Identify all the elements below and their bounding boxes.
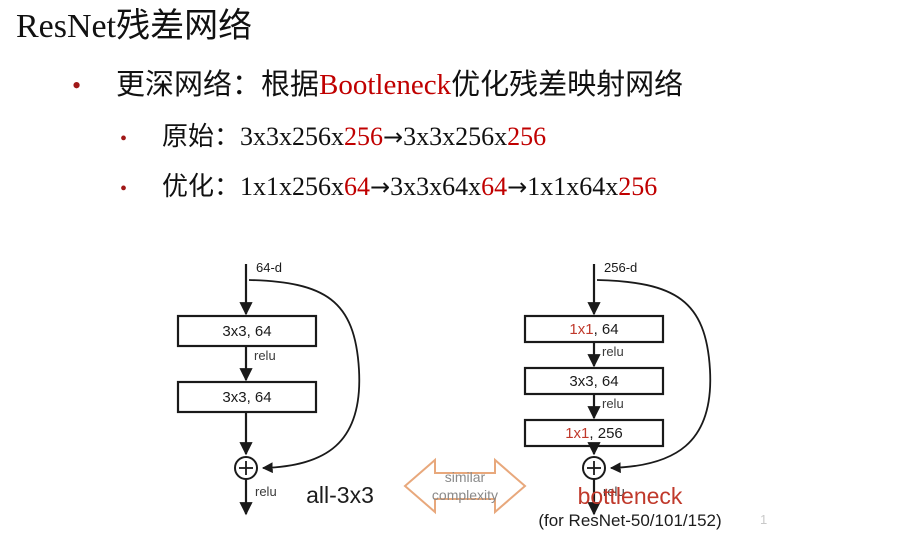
left-layer-1-label: 3x3, 64 — [222, 323, 271, 340]
bullet-original-seg1-red: 256 — [344, 122, 383, 151]
bullet-level1-part2: 优化残差映射网络 — [451, 69, 683, 101]
left-layer-2-channels: , 64 — [247, 389, 272, 406]
left-layer-2-label: 3x3, 64 — [222, 389, 271, 406]
right-layer-3-kernel: 1x1 — [565, 425, 589, 442]
left-residual-block: 64-d 3x3, 64 relu 3x3, 64 — [178, 260, 359, 514]
right-layer-1-channels: , 64 — [594, 321, 619, 338]
left-layer-2-kernel: 3x3 — [222, 389, 246, 406]
right-layer-2-kernel: 3x3 — [569, 373, 593, 390]
bullet-optimized-seg2-red: 64 — [481, 172, 507, 201]
right-arrow-icon: → — [370, 173, 390, 201]
slide-canvas: ResNet残差网络 • 更深网络：根据Bootleneck优化残差映射网络 •… — [0, 0, 913, 544]
right-layer-2-channels: , 64 — [594, 373, 619, 390]
similar-complexity-line2: complexity — [432, 487, 498, 503]
bullet-original-label: 原始： — [162, 122, 240, 151]
bullet-original-seg1: 3x3x256x — [240, 122, 344, 151]
right-relu-1: relu — [602, 344, 624, 359]
right-block-caption: bottleneck — [500, 483, 760, 510]
right-arrow-icon: → — [507, 173, 527, 201]
bullet-level1-highlight: Bootleneck — [319, 69, 451, 101]
bullet-optimized-seg2: 3x3x64x — [390, 172, 481, 201]
bullet-original-text: 原始：3x3x256x256→3x3x256x256 — [162, 120, 546, 154]
left-input-label: 64-d — [256, 260, 282, 275]
bullet-level1-text: 更深网络：根据Bootleneck优化残差映射网络 — [116, 66, 683, 104]
bullet-optimized-seg1: 1x1x256x — [240, 172, 344, 201]
bullet-original: • 原始：3x3x256x256→3x3x256x256 — [120, 120, 546, 154]
bullet-optimized: • 优化：1x1x256x64→3x3x64x64→1x1x64x256 — [120, 170, 657, 204]
bullet-original-seg2-red: 256 — [507, 122, 546, 151]
residual-block-figure: 64-d 3x3, 64 relu 3x3, 64 — [150, 248, 780, 544]
right-layer-3-label: 1x1, 256 — [565, 425, 623, 442]
bullet-original-seg2: 3x3x256x — [403, 122, 507, 151]
right-input-label: 256-d — [604, 260, 637, 275]
right-layer-1-kernel: 1x1 — [569, 321, 593, 338]
bullet-marker-icon: • — [72, 69, 116, 103]
bullet-optimized-text: 优化：1x1x256x64→3x3x64x64→1x1x64x256 — [162, 170, 657, 204]
right-relu-2: relu — [602, 396, 624, 411]
left-block-caption: all-3x3 — [250, 482, 430, 509]
bullet-level1: • 更深网络：根据Bootleneck优化残差映射网络 — [72, 66, 683, 104]
similar-complexity-line1: similar — [445, 469, 486, 485]
right-arrow-icon: → — [383, 123, 403, 151]
bullet-optimized-seg3: 1x1x64x — [527, 172, 618, 201]
bullet-optimized-seg3-red: 256 — [618, 172, 657, 201]
page-number: 1 — [760, 512, 767, 527]
left-layer-1-kernel: 3x3 — [222, 323, 246, 340]
left-relu-1: relu — [254, 348, 276, 363]
left-layer-1-channels: , 64 — [247, 323, 272, 340]
right-layer-2-label: 3x3, 64 — [569, 373, 618, 390]
bullet-marker-icon: • — [120, 124, 162, 154]
bullet-level1-part1: 更深网络：根据 — [116, 69, 319, 101]
right-layer-3-channels: , 256 — [589, 425, 622, 442]
right-layer-1-label: 1x1, 64 — [569, 321, 618, 338]
right-block-subcaption: (for ResNet-50/101/152) — [490, 511, 770, 531]
bullet-marker-icon: • — [120, 174, 162, 204]
page-title: ResNet残差网络 — [16, 6, 252, 48]
bullet-optimized-seg1-red: 64 — [344, 172, 370, 201]
bullet-optimized-label: 优化： — [162, 172, 240, 201]
right-residual-block: 256-d 1x1, 64 relu 3x3, 64 relu — [525, 260, 710, 514]
